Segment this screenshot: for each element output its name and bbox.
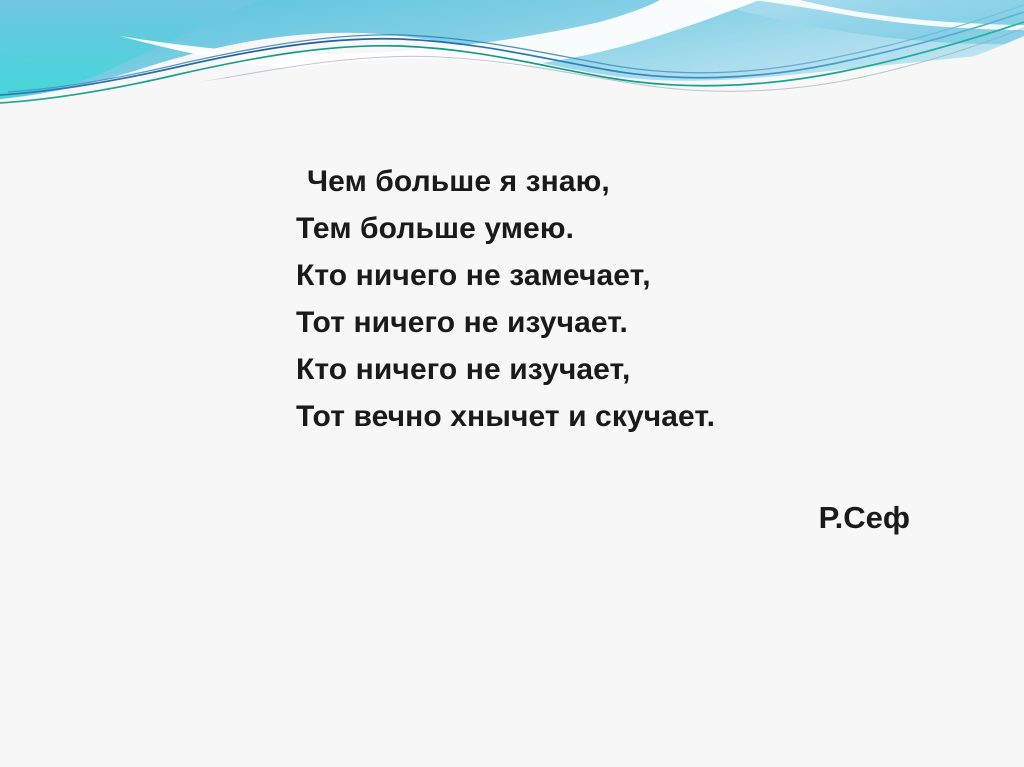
poem-line-2: Тем больше умею. [296, 205, 956, 252]
wave-upper-lobe [700, 0, 1024, 44]
wave-white-sliver [752, 0, 1024, 30]
wave-accent-line-steel [40, 28, 1024, 104]
slide-canvas: Чем больше я знаю, Тем больше умею. Кто … [0, 0, 1024, 767]
wave-white-swoosh [120, 0, 760, 75]
poem-line-4: Тот ничего не изучает. [296, 299, 956, 346]
wave-accent-line-blue-2 [8, 5, 1024, 92]
poem-line-5: Кто ничего не изучает, [296, 346, 956, 393]
wave-left-cyan [0, 0, 260, 99]
poem-line-1: Чем больше я знаю, [296, 158, 956, 205]
decorative-wave-banner [0, 0, 1024, 115]
wave-main-band [0, 0, 1024, 99]
poem-line-3: Кто ничего не замечает, [296, 252, 956, 299]
wave-accent-line-teal [0, 22, 1024, 103]
poem-line-6: Тот вечно хнычет и скучает. [296, 393, 956, 440]
wave-bottom-fade [0, 36, 1024, 115]
banner-background [0, 0, 1024, 115]
poem-author: Р.Сеф [296, 500, 910, 536]
wave-accent-line-blue [0, 12, 1024, 95]
poem-text-block: Чем больше я знаю, Тем больше умею. Кто … [296, 158, 956, 440]
